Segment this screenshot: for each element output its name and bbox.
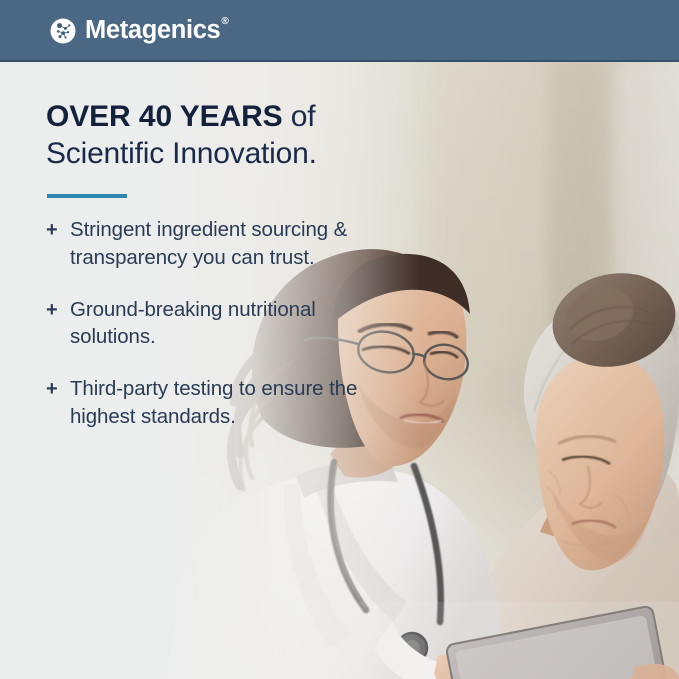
headline-emphasis: OVER 40 YEARS xyxy=(46,100,283,133)
brand-wordmark: Metagenics® xyxy=(85,18,228,44)
list-item: + Third-party testing to ensure the high… xyxy=(46,375,376,430)
metagenics-molecule-circle-icon xyxy=(50,18,76,44)
marketing-banner: Metagenics® OVER 40 YEARS of Scientific … xyxy=(0,0,679,679)
list-item: + Stringent ingredient sourcing & transp… xyxy=(46,216,376,271)
registered-trademark-mark: ® xyxy=(221,16,228,27)
plus-icon: + xyxy=(46,216,70,244)
headline-connector: of xyxy=(283,100,316,133)
plus-icon: + xyxy=(46,296,70,324)
plus-icon: + xyxy=(46,375,70,403)
page-title: OVER 40 YEARS of Scientific Innovation. xyxy=(46,98,376,172)
claim-text: Ground-breaking nutritional solutions. xyxy=(70,296,376,351)
copy-column: OVER 40 YEARS of Scientific Innovation. … xyxy=(46,98,376,430)
accent-divider xyxy=(47,194,127,198)
brand-name-text: Metagenics xyxy=(85,16,220,44)
brand-header: Metagenics® xyxy=(0,0,679,62)
list-item: + Ground-breaking nutritional solutions. xyxy=(46,296,376,351)
brand-lockup[interactable]: Metagenics® xyxy=(50,18,228,44)
claims-list: + Stringent ingredient sourcing & transp… xyxy=(46,216,376,430)
claim-text: Stringent ingredient sourcing & transpar… xyxy=(70,216,376,271)
headline-secondline: Scientific Innovation. xyxy=(46,135,376,172)
claim-text: Third-party testing to ensure the highes… xyxy=(70,375,376,430)
